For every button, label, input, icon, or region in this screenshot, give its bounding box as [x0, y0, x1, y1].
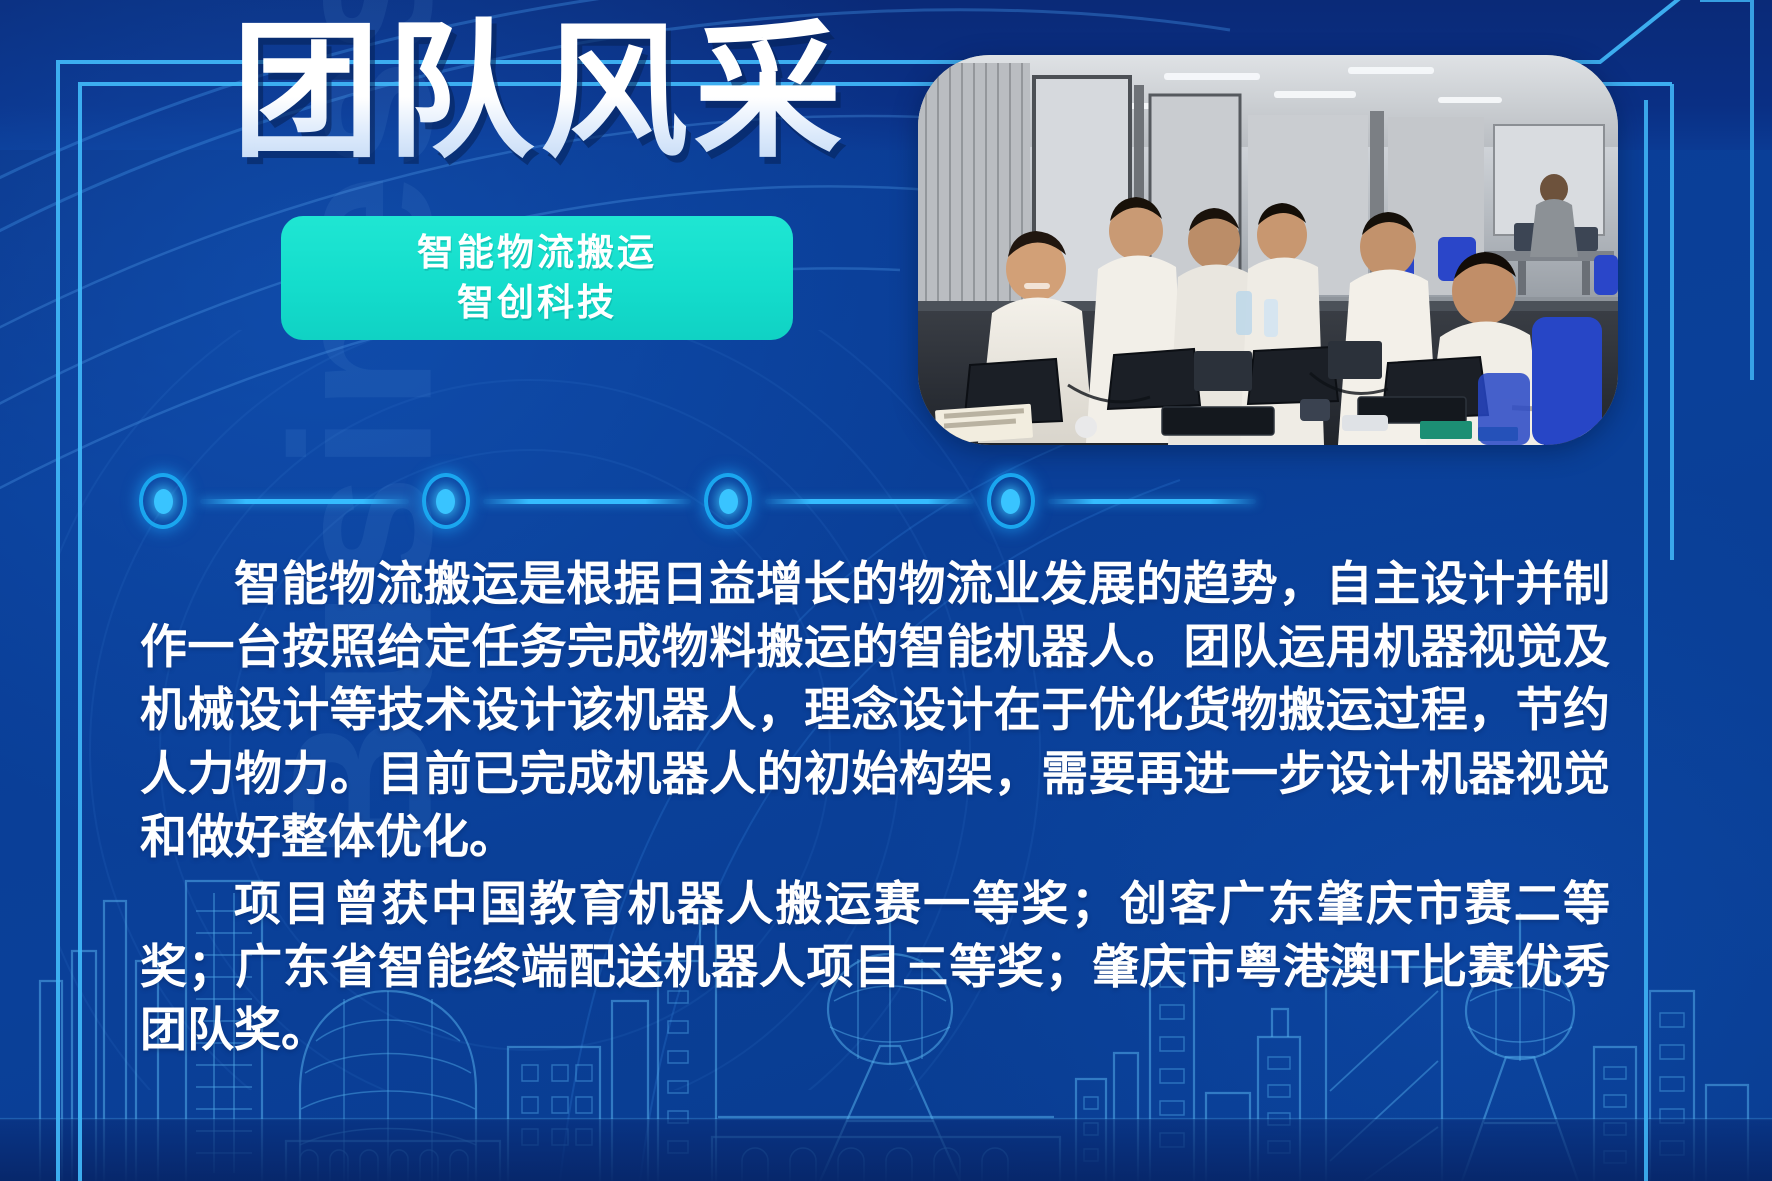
page-title: 团队风采: [232, 6, 848, 181]
divider-line-3: [765, 499, 974, 504]
subtitle-line-1: 智能物流搬运: [417, 230, 657, 276]
bottom-strip: [0, 1119, 1772, 1181]
poster-root: Business: [0, 0, 1772, 1181]
paragraph-description: 智能物流搬运是根据日益增长的物流业发展的趋势，自主设计并制作一台按照给定任务完成…: [140, 552, 1610, 868]
body-copy: 智能物流搬运是根据日益增长的物流业发展的趋势，自主设计并制作一台按照给定任务完成…: [140, 552, 1610, 1062]
divider-line-2: [483, 499, 692, 504]
divider-dot-4: [988, 475, 1034, 527]
divider-dot-3: [705, 475, 751, 527]
team-photo: [918, 55, 1618, 445]
dot-divider: [140, 472, 1270, 530]
divider-line-1: [200, 499, 409, 504]
divider-dot-1: [140, 475, 186, 527]
paragraph-awards: 项目曾获中国教育机器人搬运赛一等奖；创客广东肇庆市赛二等奖；广东省智能终端配送机…: [140, 872, 1610, 1062]
divider-line-4: [1048, 499, 1257, 504]
divider-dot-2: [423, 475, 469, 527]
subtitle-line-2: 智创科技: [457, 280, 617, 326]
subtitle-badge: 智能物流搬运 智创科技: [281, 216, 793, 340]
